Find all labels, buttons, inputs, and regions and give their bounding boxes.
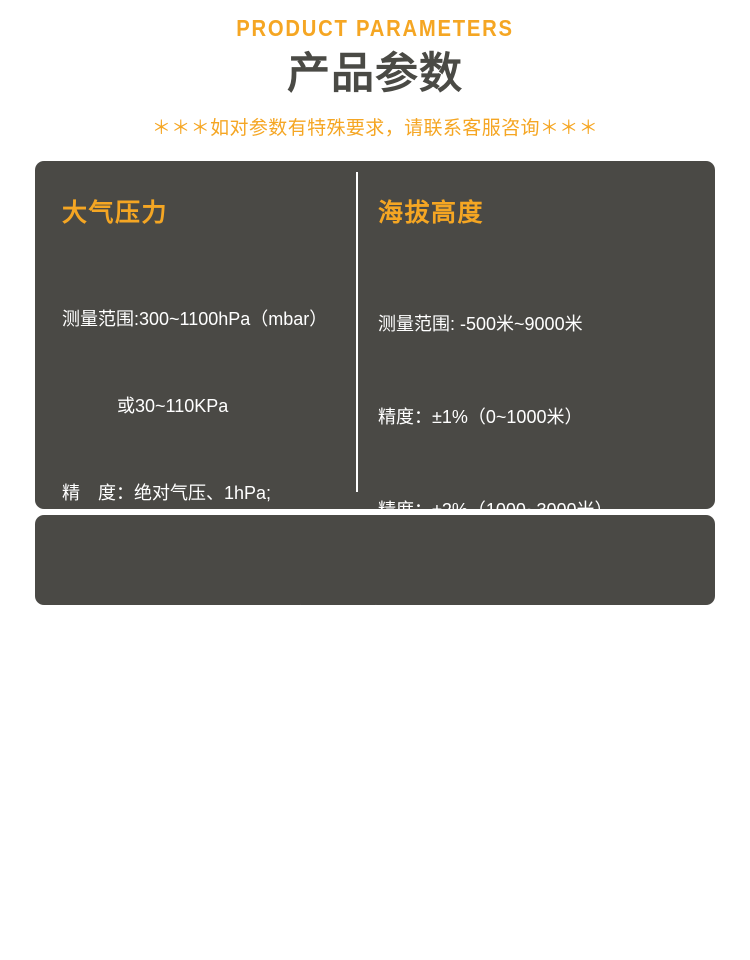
- spec-line: 工作电压：DC 9~24V供电（默认12V）: [62, 599, 536, 632]
- product-parameters-page: PRODUCT PARAMETERS 产品参数 ＊＊＊如对参数有特殊要求，请联系…: [0, 0, 750, 626]
- spec-line: 精 度：绝对气压、1hPa;: [62, 479, 372, 508]
- page-subtitle: ＊＊＊如对参数有特殊要求，请联系客服咨询＊＊＊: [0, 116, 750, 142]
- pressure-column: 大气压力 测量范围:300~1100hPa（mbar） 或30~110KPa 精…: [62, 161, 372, 509]
- page-title: 产品参数: [0, 46, 750, 102]
- spec-line: 精度：±1%（0~1000米）: [378, 402, 698, 433]
- general-specs-panel: 工作电压：DC 9~24V供电（默认12V） 工作环境：温度 -20~50℃，湿…: [35, 515, 715, 605]
- column-divider: [356, 172, 358, 492]
- pressure-section-title: 大气压力: [62, 193, 372, 229]
- spec-line: 测量范围: -500米~9000米: [378, 309, 698, 340]
- eyebrow-title: PRODUCT PARAMETERS: [45, 14, 705, 42]
- page-header: PRODUCT PARAMETERS 产品参数 ＊＊＊如对参数有特殊要求，请联系…: [0, 0, 750, 142]
- altitude-section-title: 海拔高度: [378, 193, 698, 229]
- general-spec-list: 工作电压：DC 9~24V供电（默认12V） 工作环境：温度 -20~50℃，湿…: [62, 533, 536, 797]
- spec-line: 测量范围:300~1100hPa（mbar）: [62, 305, 372, 334]
- altitude-column: 海拔高度 测量范围: -500米~9000米 精度：±1%（0~1000米） 精…: [378, 161, 698, 509]
- spec-line: 工作环境：温度 -20~50℃，湿度 15~90%RH（无冷凝）: [62, 698, 536, 731]
- spec-line: 或30~110KPa: [62, 392, 372, 421]
- specs-panel: 大气压力 测量范围:300~1100hPa（mbar） 或30~110KPa 精…: [35, 161, 715, 509]
- spec-line: （0~1000米，1000~9000米）: [378, 867, 698, 898]
